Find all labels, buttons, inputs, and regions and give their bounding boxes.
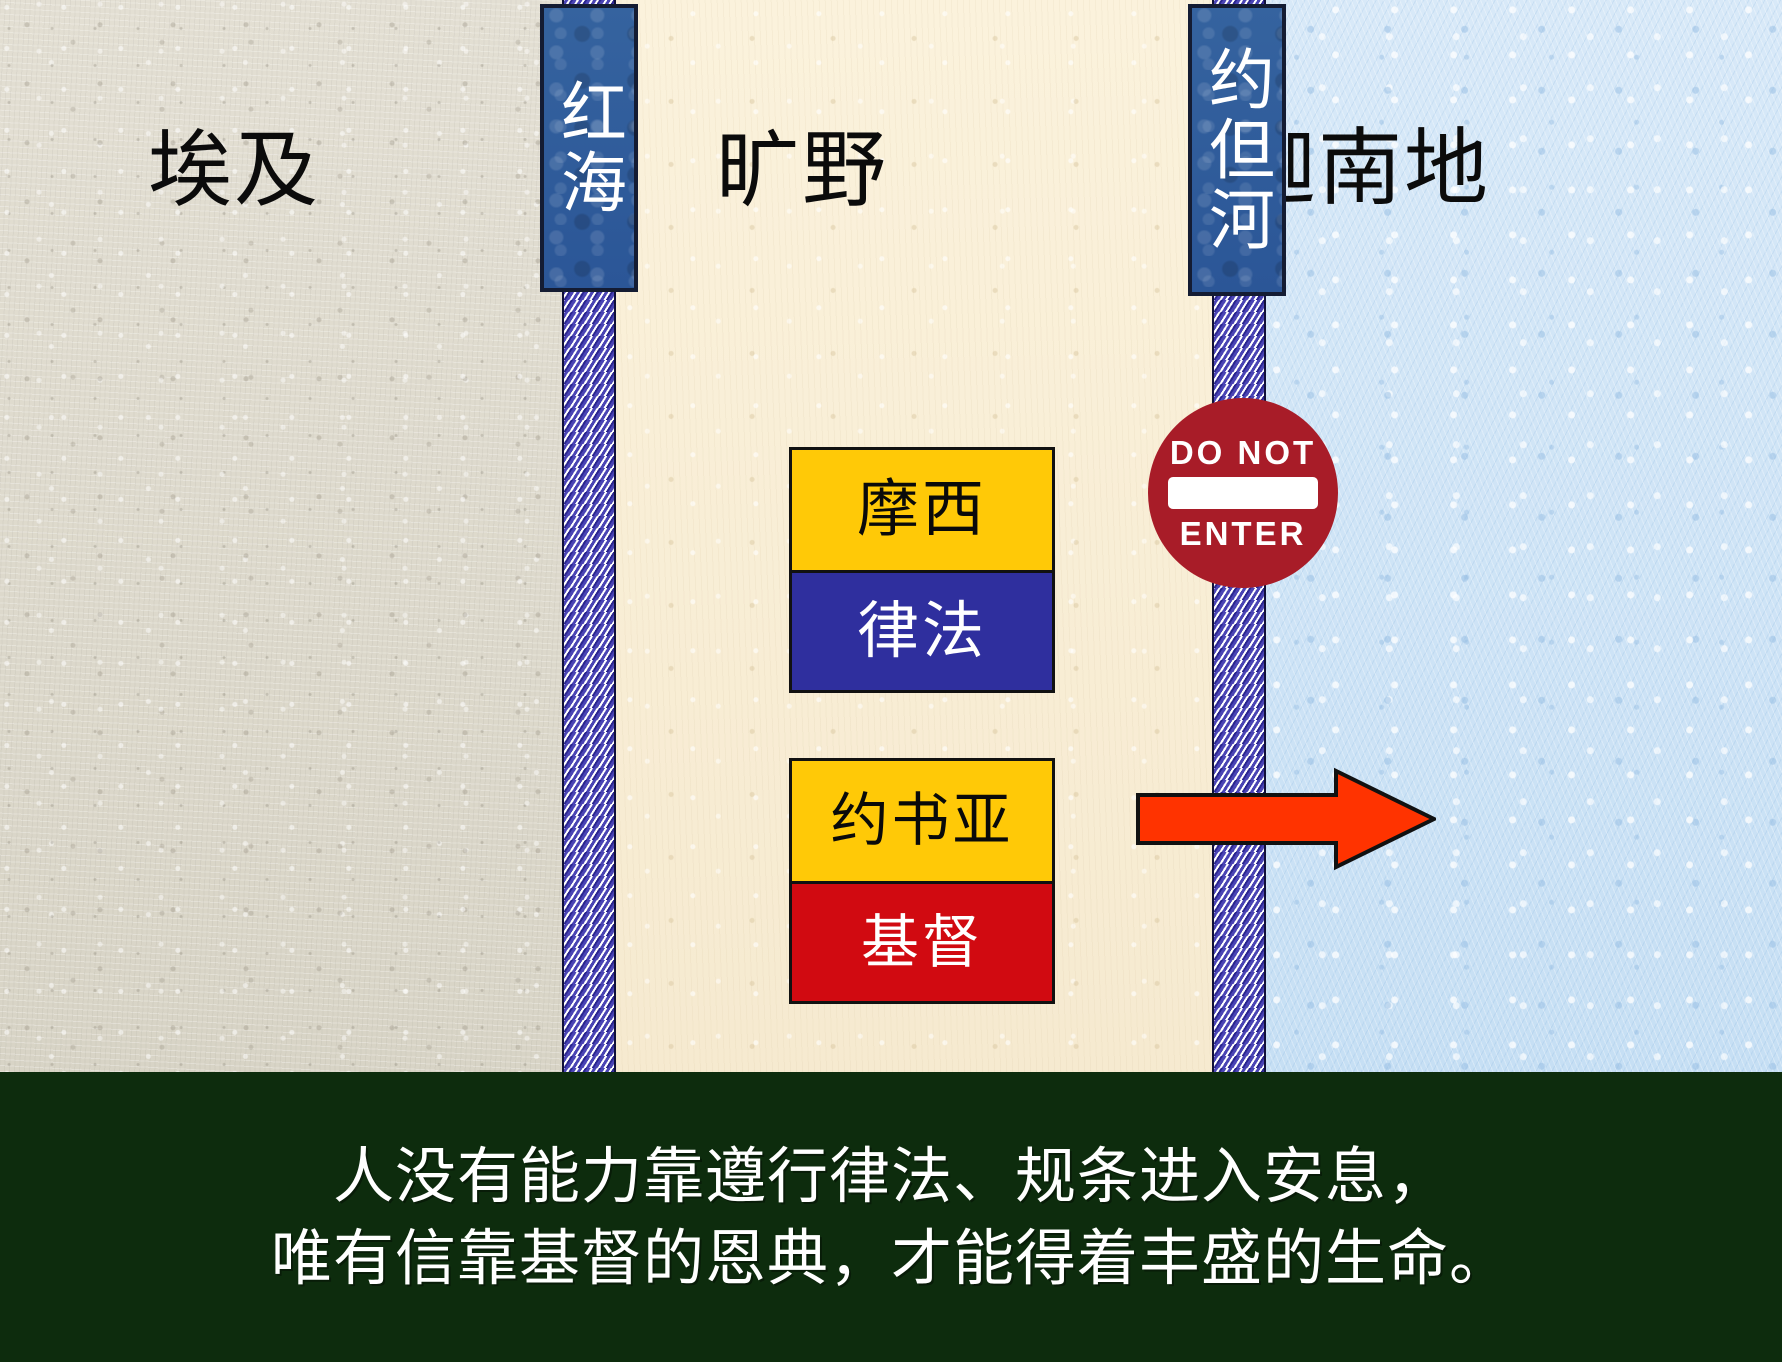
caption-line-1: 人没有能力靠遵行律法、规条进入安息， — [333, 1135, 1449, 1217]
concept-stack-grace: 约书亚 基督 — [789, 758, 1055, 1004]
concept-cell-joshua: 约书亚 — [792, 761, 1052, 881]
entry-arrow-icon — [1136, 767, 1436, 871]
do-not-enter-sign: DO NOT ENTER — [1148, 398, 1338, 588]
region-title-wilderness: 旷野 — [716, 128, 888, 212]
do-not-enter-bottom-text: ENTER — [1180, 517, 1307, 550]
region-title-egypt: 埃及 — [148, 128, 320, 212]
concept-stack-law: 摩西 律法 — [789, 447, 1055, 693]
caption-line-2: 唯有信靠基督的恩典，才能得着丰盛的生命。 — [271, 1217, 1511, 1299]
concept-cell-christ: 基督 — [792, 881, 1052, 1001]
caption-band: 人没有能力靠遵行律法、规条进入安息， 唯有信靠基督的恩典，才能得着丰盛的生命。 — [0, 1072, 1782, 1362]
water-label-jordan: 约但河 — [1188, 4, 1286, 296]
concept-cell-moses: 摩西 — [792, 450, 1052, 570]
do-not-enter-top-text: DO NOT — [1170, 436, 1316, 469]
slide-canvas: 埃及 旷野 迦南地 红海 约但河 摩西 律法 约书亚 基督 DO NOT ENT… — [0, 0, 1782, 1362]
concept-cell-law: 律法 — [792, 570, 1052, 690]
water-label-red-sea: 红海 — [540, 4, 638, 292]
do-not-enter-bar-icon — [1168, 477, 1318, 509]
